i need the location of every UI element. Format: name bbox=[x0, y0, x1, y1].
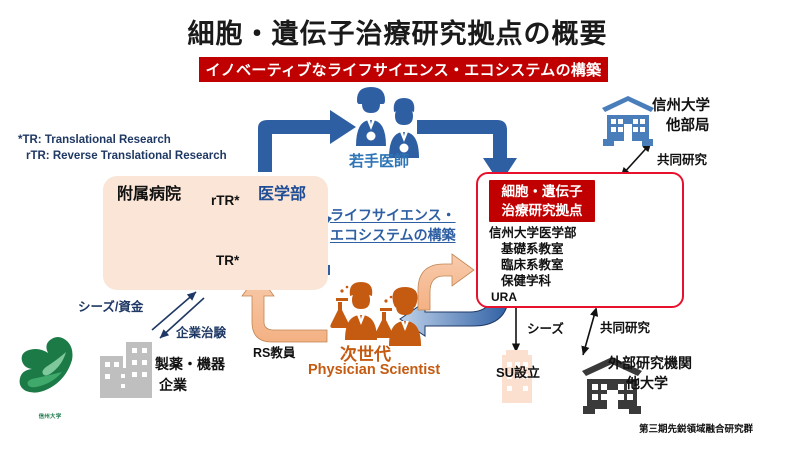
diagram-canvas: 細胞・遺伝子治療研究拠点の概要 イノベーティブなライフサイエンス・エコシステムの… bbox=[0, 0, 795, 454]
footer-note: 第三期先鋭領域融合研究群 bbox=[639, 421, 753, 435]
physician-scientist-label: Physician Scientist bbox=[308, 362, 440, 378]
hospital-label: 附属病院 bbox=[117, 180, 181, 204]
shinshu-other-line-1: 信州大学 bbox=[652, 96, 710, 116]
legend-note: *TR: Translational Research rTR: Reverse… bbox=[18, 132, 227, 164]
subtitle-banner-text: イノベーティブなライフサイエンス・エコシステムの構築 bbox=[205, 59, 601, 80]
shinshu-other-dept-label: 信州大学 他部局 bbox=[652, 96, 710, 136]
hub-member-3: 保健学科 bbox=[489, 273, 577, 289]
two-scientists-icon bbox=[330, 282, 421, 346]
ecosystem-line-2: エコシステムの構築 bbox=[330, 225, 456, 245]
hub-member-0: 信州大学医学部 bbox=[489, 225, 577, 241]
external-org-line-2: 他大学 bbox=[608, 373, 692, 393]
flow-arrow-to-doctors bbox=[258, 110, 356, 172]
hub-member-ura: URA bbox=[489, 289, 577, 305]
page-title: 細胞・遺伝子治療研究拠点の概要 bbox=[0, 12, 795, 51]
shinshu-university-logo bbox=[20, 337, 73, 393]
tr-arrow-label: TR* bbox=[216, 253, 239, 268]
seeds-label: シーズ bbox=[527, 318, 564, 337]
link-arrow-shinshu bbox=[622, 143, 651, 175]
shinshu-other-building-icon bbox=[602, 96, 654, 146]
rs-faculty-label: RS教員 bbox=[253, 342, 295, 361]
corporate-trial-label: 企業治験 bbox=[176, 322, 226, 341]
young-doctors-label: 若手医師 bbox=[349, 150, 409, 171]
pharma-company-line-2: 企業 bbox=[155, 375, 225, 396]
joint-research-label-bottom: 共同研究 bbox=[600, 317, 650, 336]
hub-banner-line-2: 治療研究拠点 bbox=[502, 201, 583, 220]
link-arrow-external bbox=[583, 309, 596, 355]
seeds-funds-label: シーズ/資金 bbox=[78, 296, 143, 315]
hub-banner: 細胞・遺伝子 治療研究拠点 bbox=[489, 180, 595, 222]
external-org-label: 外部研究機関 他大学 bbox=[608, 353, 692, 393]
hub-member-list: 信州大学医学部 基礎系教室 臨床系教室 保健学科 URA bbox=[489, 225, 577, 305]
joint-research-label-top: 共同研究 bbox=[657, 149, 707, 168]
logo-caption: 信州大学 bbox=[19, 412, 81, 420]
flow-arrow-nextgen-to-hub bbox=[418, 254, 474, 310]
pharma-company-line-1: 製薬・機器 bbox=[155, 354, 225, 375]
pharma-company-icon bbox=[100, 342, 152, 398]
pharma-company-label: 製薬・機器 企業 bbox=[155, 354, 225, 396]
shinshu-other-line-2: 他部局 bbox=[652, 116, 710, 136]
rtr-arrow-label: rTR* bbox=[211, 193, 240, 208]
two-doctors-icon bbox=[356, 87, 419, 158]
hub-member-1: 基礎系教室 bbox=[489, 241, 577, 257]
startup-label: SU設立 bbox=[496, 362, 540, 381]
external-org-line-1: 外部研究機関 bbox=[608, 353, 692, 373]
medical-school-label: 医学部 bbox=[258, 180, 306, 204]
legend-line-2: rTR: Reverse Translational Research bbox=[18, 148, 227, 164]
ecosystem-line-1: ライフサイエンス・ bbox=[330, 205, 456, 225]
ecosystem-label: ライフサイエンス・ エコシステムの構築 bbox=[330, 205, 456, 245]
hub-banner-line-1: 細胞・遺伝子 bbox=[502, 182, 583, 201]
legend-line-1: *TR: Translational Research bbox=[18, 132, 227, 148]
hub-member-2: 臨床系教室 bbox=[489, 257, 577, 273]
subtitle-banner: イノベーティブなライフサイエンス・エコシステムの構築 bbox=[199, 57, 608, 82]
